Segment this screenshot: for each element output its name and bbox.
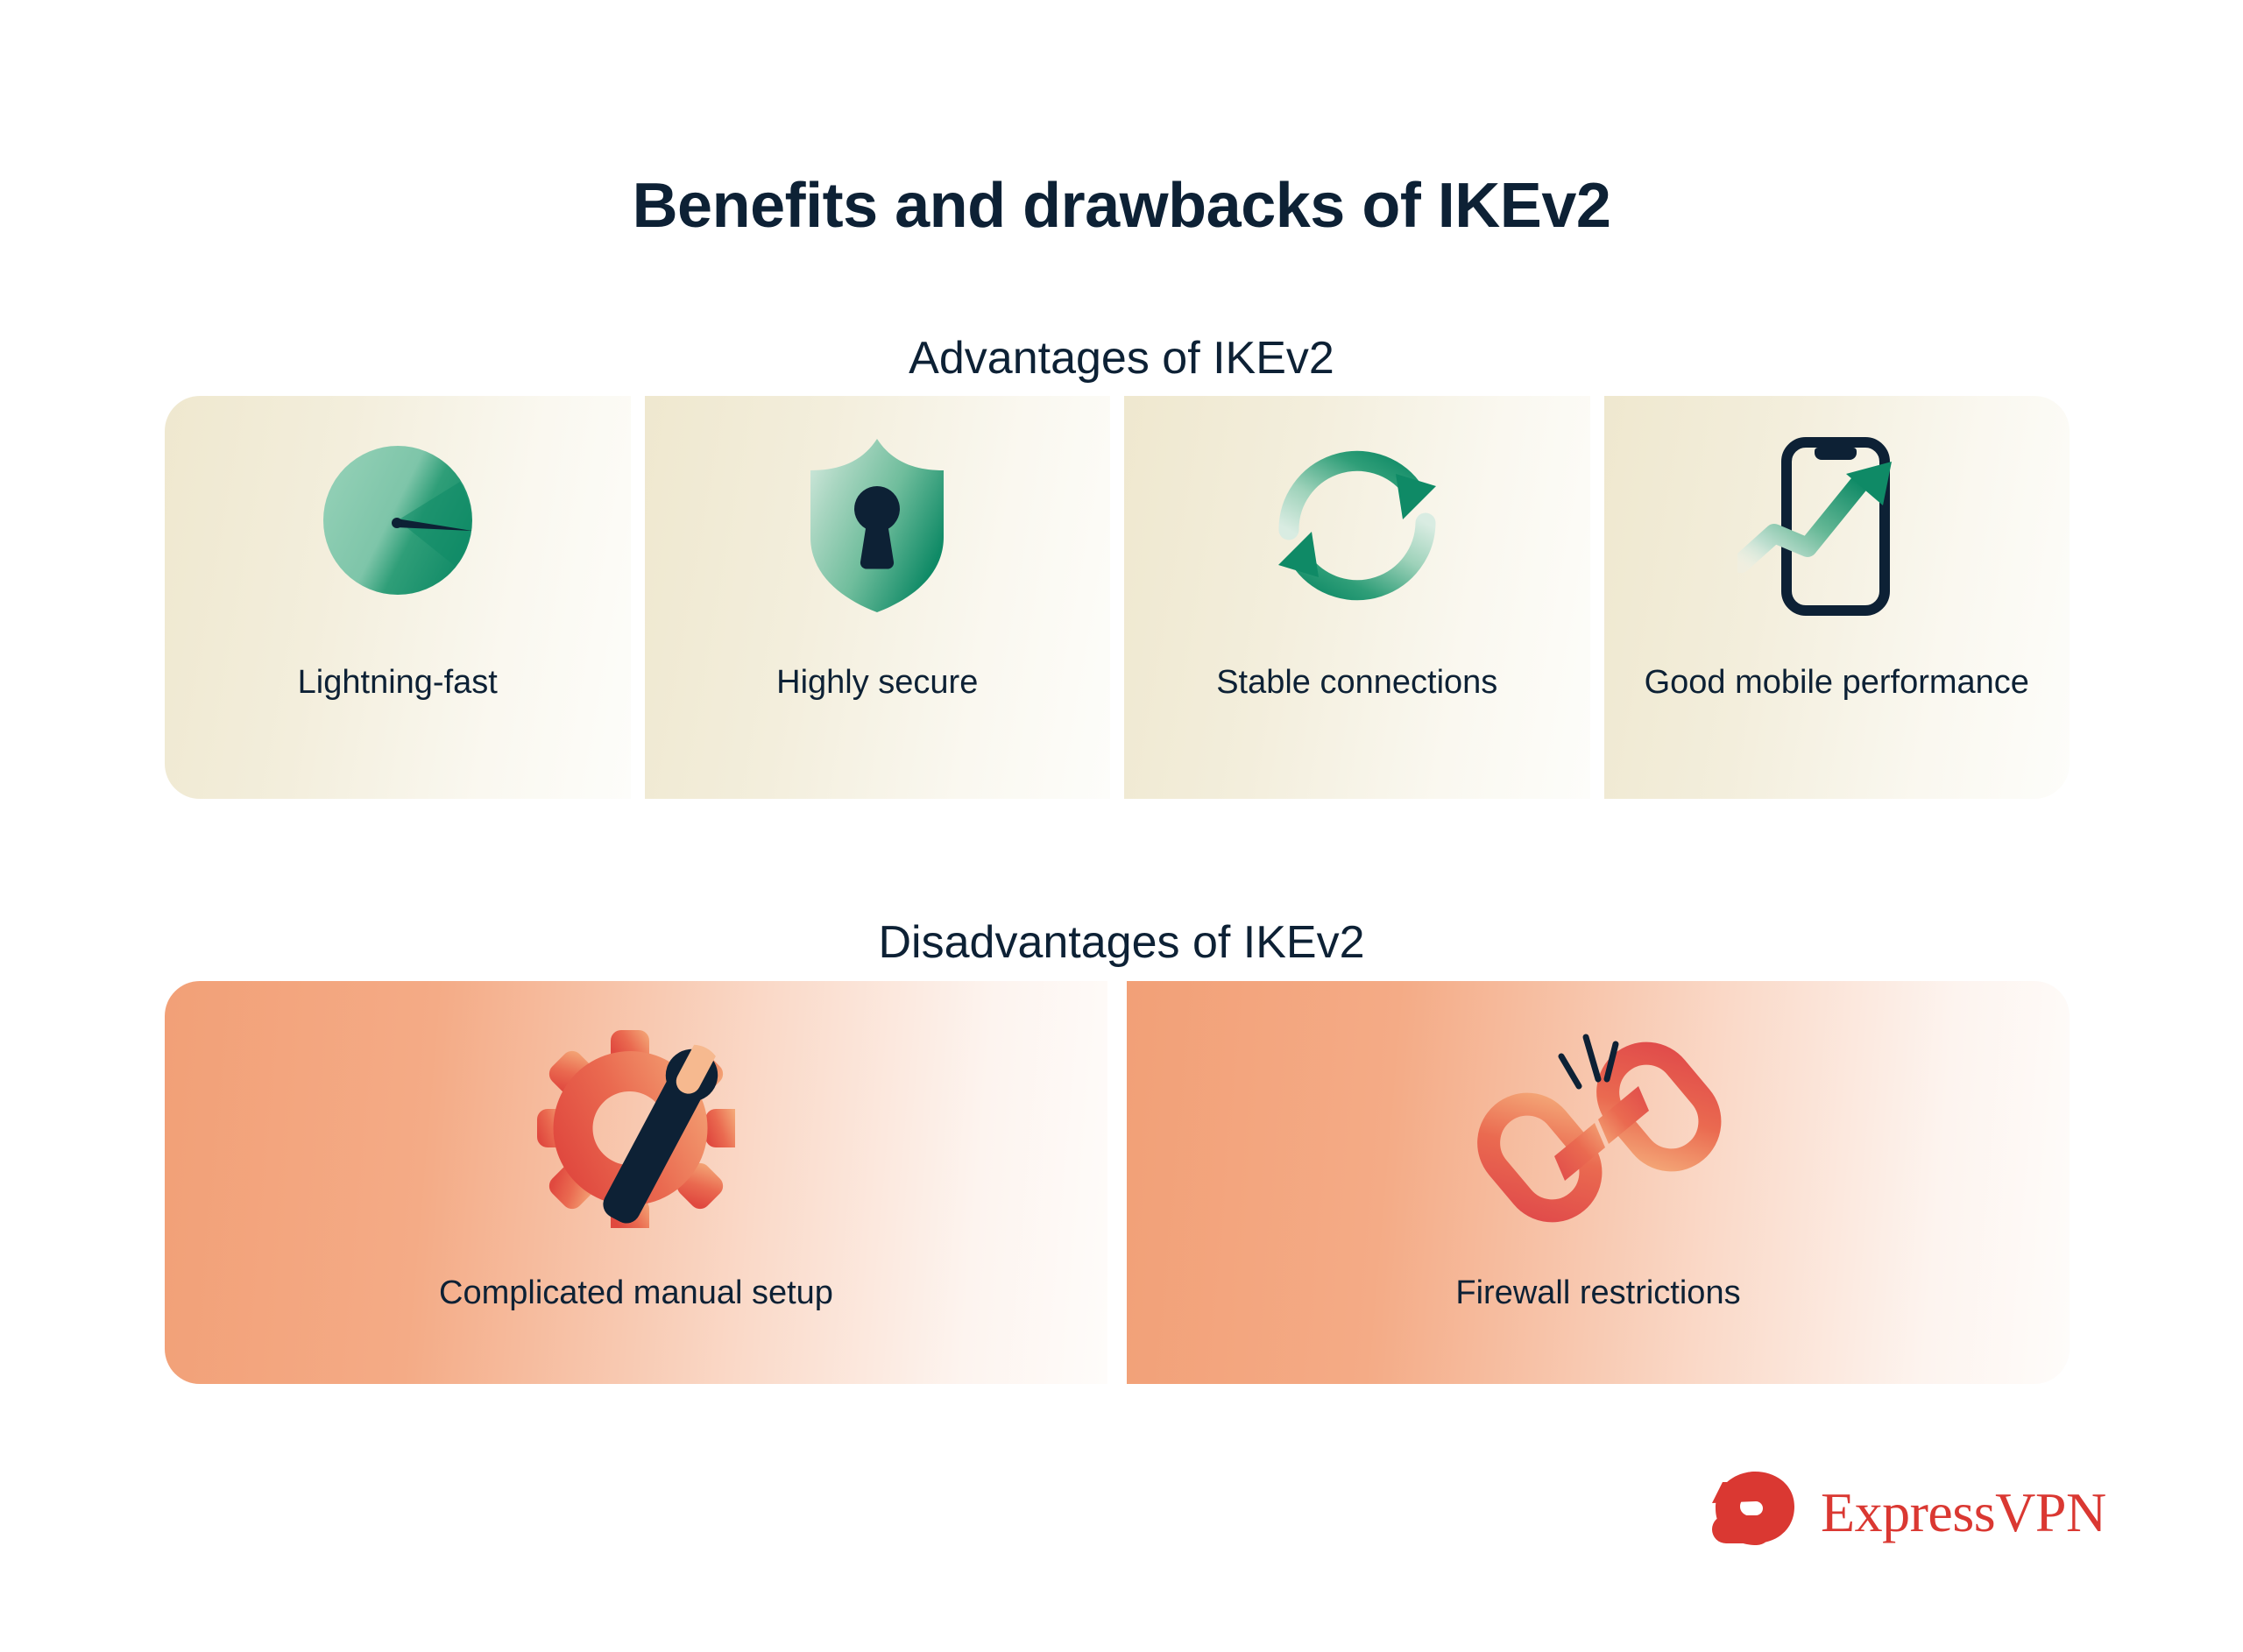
circular-arrows-refresh-icon xyxy=(1124,433,1590,617)
advantage-card-stable-connections: Stable connections xyxy=(1124,396,1590,799)
page-title: Benefits and drawbacks of IKEv2 xyxy=(0,172,2243,241)
gear-wrench-icon xyxy=(165,1025,1107,1235)
expressvpn-e-mark-icon xyxy=(1707,1470,1801,1555)
disadvantages-heading: Disadvantages of IKEv2 xyxy=(0,918,2243,968)
advantage-card-label: Good mobile performance xyxy=(1604,663,2070,702)
advantage-card-label: Stable connections xyxy=(1124,663,1590,702)
advantage-card-label: Lightning-fast xyxy=(165,663,631,702)
shield-keyhole-icon xyxy=(645,433,1111,617)
advantage-card-label: Highly secure xyxy=(645,663,1111,702)
disadvantage-card-complicated-manual-setup: Complicated manual setup xyxy=(165,981,1107,1384)
disadvantage-card-label: Complicated manual setup xyxy=(165,1274,1107,1312)
expressvpn-logo: ExpressVPN xyxy=(1707,1470,2106,1555)
infographic-page: Benefits and drawbacks of IKEv2 Advantag… xyxy=(0,0,2243,1652)
phone-trending-up-icon xyxy=(1604,433,2070,617)
advantages-heading: Advantages of IKEv2 xyxy=(0,334,2243,384)
disadvantages-card-row: Complicated manual setup xyxy=(165,981,2070,1384)
disadvantage-card-label: Firewall restrictions xyxy=(1127,1274,2070,1312)
disadvantage-card-firewall-restrictions: Firewall restrictions xyxy=(1127,981,2070,1384)
advantage-card-good-mobile-performance: Good mobile performance xyxy=(1604,396,2070,799)
advantages-card-row: Lightning-fast H xyxy=(165,396,2070,799)
broken-chain-icon xyxy=(1127,1025,2070,1235)
advantage-card-lightning-fast: Lightning-fast xyxy=(165,396,631,799)
expressvpn-wordmark: ExpressVPN xyxy=(1821,1485,2106,1541)
advantage-card-highly-secure: Highly secure xyxy=(645,396,1111,799)
speedometer-icon xyxy=(165,433,631,617)
